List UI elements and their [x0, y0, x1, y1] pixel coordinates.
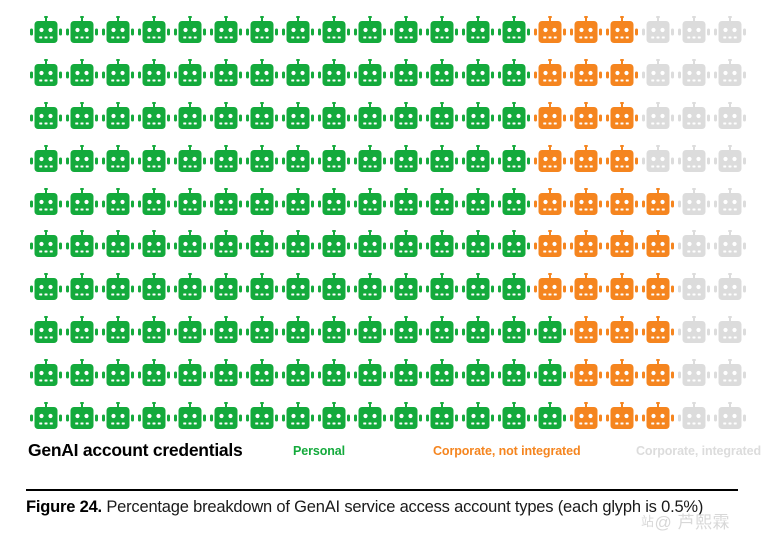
pictogram-glyph-green [210, 57, 246, 91]
pictogram-glyph-grey [678, 57, 714, 91]
robot-head-icon [642, 102, 674, 132]
robot-head-icon [246, 102, 278, 132]
pictogram-glyph-orange [570, 57, 606, 91]
pictogram-glyph-green [102, 314, 138, 348]
pictogram-glyph-green [210, 314, 246, 348]
pictogram-glyph-green [174, 57, 210, 91]
robot-head-icon [210, 16, 242, 46]
legend-item-corporate-not-integrated: Corporate, not integrated [433, 444, 581, 458]
pictogram-glyph-green [102, 57, 138, 91]
robot-head-icon [246, 273, 278, 303]
robot-head-icon [678, 188, 710, 218]
robot-head-icon [174, 273, 206, 303]
robot-head-icon [570, 230, 602, 260]
robot-head-icon [678, 273, 710, 303]
pictogram-glyph-green [498, 400, 534, 434]
pictogram-glyph-grey [714, 400, 750, 434]
pictogram-glyph-green [462, 357, 498, 391]
figure-container: GenAI account credentials Personal Corpo… [0, 0, 762, 548]
pictogram-glyph-green [210, 100, 246, 134]
robot-head-icon [426, 145, 458, 175]
pictogram-glyph-green [174, 271, 210, 305]
robot-head-icon [462, 230, 494, 260]
robot-head-icon [174, 102, 206, 132]
robot-head-icon [462, 359, 494, 389]
pictogram-glyph-green [210, 143, 246, 177]
robot-head-icon [30, 402, 62, 432]
robot-head-icon [30, 59, 62, 89]
robot-head-icon [714, 316, 746, 346]
pictogram-glyph-orange [606, 100, 642, 134]
robot-head-icon [354, 402, 386, 432]
robot-head-icon [174, 402, 206, 432]
robot-head-icon [102, 402, 134, 432]
robot-head-icon [210, 402, 242, 432]
pictogram-glyph-green [174, 143, 210, 177]
robot-head-icon [30, 145, 62, 175]
pictogram-glyph-green [246, 357, 282, 391]
robot-head-icon [354, 59, 386, 89]
robot-head-icon [390, 273, 422, 303]
pictogram-glyph-green [30, 100, 66, 134]
robot-head-icon [102, 230, 134, 260]
robot-head-icon [102, 316, 134, 346]
pictogram-glyph-green [318, 57, 354, 91]
robot-head-icon [246, 402, 278, 432]
pictogram-glyph-orange [570, 186, 606, 220]
robot-head-icon [426, 59, 458, 89]
legend-title: GenAI account credentials [28, 440, 243, 461]
robot-head-icon [318, 188, 350, 218]
robot-head-icon [534, 273, 566, 303]
pictogram-row [30, 314, 738, 348]
robot-head-icon [30, 359, 62, 389]
robot-head-icon [642, 316, 674, 346]
pictogram-glyph-green [66, 228, 102, 262]
caption-divider [26, 489, 738, 491]
pictogram-glyph-green [462, 314, 498, 348]
robot-head-icon [66, 273, 98, 303]
robot-head-icon [282, 16, 314, 46]
pictogram-glyph-green [282, 14, 318, 48]
pictogram-glyph-green [462, 57, 498, 91]
pictogram-grid [30, 14, 738, 434]
pictogram-glyph-orange [606, 228, 642, 262]
pictogram-glyph-orange [534, 57, 570, 91]
pictogram-glyph-green [246, 314, 282, 348]
pictogram-glyph-green [498, 57, 534, 91]
robot-head-icon [498, 102, 530, 132]
robot-head-icon [498, 273, 530, 303]
pictogram-glyph-green [102, 400, 138, 434]
robot-head-icon [426, 16, 458, 46]
robot-head-icon [498, 316, 530, 346]
robot-head-icon [282, 273, 314, 303]
pictogram-glyph-orange [606, 186, 642, 220]
pictogram-glyph-green [138, 186, 174, 220]
robot-head-icon [642, 359, 674, 389]
pictogram-glyph-orange [570, 143, 606, 177]
robot-head-icon [678, 145, 710, 175]
robot-head-icon [102, 273, 134, 303]
pictogram-glyph-green [174, 186, 210, 220]
robot-head-icon [678, 59, 710, 89]
pictogram-glyph-green [210, 400, 246, 434]
pictogram-glyph-green [210, 228, 246, 262]
robot-head-icon [606, 59, 638, 89]
pictogram-glyph-green [30, 57, 66, 91]
robot-head-icon [534, 16, 566, 46]
robot-head-icon [66, 359, 98, 389]
pictogram-glyph-green [30, 143, 66, 177]
robot-head-icon [498, 59, 530, 89]
pictogram-glyph-green [282, 143, 318, 177]
robot-head-icon [138, 273, 170, 303]
robot-head-icon [462, 145, 494, 175]
robot-head-icon [174, 145, 206, 175]
pictogram-glyph-orange [570, 314, 606, 348]
pictogram-glyph-green [426, 143, 462, 177]
robot-head-icon [138, 316, 170, 346]
robot-head-icon [678, 102, 710, 132]
pictogram-glyph-orange [534, 271, 570, 305]
robot-head-icon [534, 188, 566, 218]
robot-head-icon [282, 402, 314, 432]
robot-head-icon [498, 359, 530, 389]
robot-head-icon [66, 16, 98, 46]
pictogram-glyph-orange [642, 314, 678, 348]
pictogram-glyph-green [66, 57, 102, 91]
pictogram-glyph-green [210, 357, 246, 391]
pictogram-glyph-grey [714, 100, 750, 134]
robot-head-icon [498, 188, 530, 218]
robot-head-icon [714, 188, 746, 218]
pictogram-glyph-green [246, 14, 282, 48]
robot-head-icon [570, 59, 602, 89]
robot-head-icon [30, 316, 62, 346]
legend-item-corporate-integrated: Corporate, integrated [636, 444, 761, 458]
robot-head-icon [534, 102, 566, 132]
robot-head-icon [282, 359, 314, 389]
pictogram-row [30, 14, 738, 48]
pictogram-glyph-green [282, 57, 318, 91]
pictogram-glyph-green [390, 100, 426, 134]
pictogram-glyph-green [318, 186, 354, 220]
robot-head-icon [534, 316, 566, 346]
robot-head-icon [426, 273, 458, 303]
robot-head-icon [210, 145, 242, 175]
pictogram-glyph-grey [678, 143, 714, 177]
pictogram-glyph-orange [534, 14, 570, 48]
pictogram-glyph-grey [678, 100, 714, 134]
robot-head-icon [138, 145, 170, 175]
robot-head-icon [642, 145, 674, 175]
pictogram-glyph-green [498, 357, 534, 391]
robot-head-icon [246, 59, 278, 89]
pictogram-glyph-green [498, 14, 534, 48]
robot-head-icon [102, 59, 134, 89]
pictogram-glyph-green [462, 14, 498, 48]
robot-head-icon [498, 230, 530, 260]
pictogram-glyph-green [462, 228, 498, 262]
robot-head-icon [282, 102, 314, 132]
pictogram-glyph-green [354, 314, 390, 348]
pictogram-glyph-green [138, 357, 174, 391]
pictogram-glyph-green [30, 400, 66, 434]
robot-head-icon [282, 230, 314, 260]
pictogram-glyph-green [30, 186, 66, 220]
robot-head-icon [318, 359, 350, 389]
pictogram-glyph-grey [678, 14, 714, 48]
pictogram-glyph-green [138, 400, 174, 434]
pictogram-glyph-orange [642, 400, 678, 434]
robot-head-icon [462, 59, 494, 89]
pictogram-glyph-green [354, 100, 390, 134]
pictogram-glyph-green [390, 14, 426, 48]
pictogram-glyph-green [246, 57, 282, 91]
pictogram-glyph-green [66, 271, 102, 305]
robot-head-icon [570, 359, 602, 389]
pictogram-glyph-green [426, 357, 462, 391]
robot-head-icon [138, 16, 170, 46]
robot-head-icon [678, 402, 710, 432]
pictogram-glyph-green [354, 400, 390, 434]
pictogram-glyph-green [30, 271, 66, 305]
robot-head-icon [498, 402, 530, 432]
robot-head-icon [174, 16, 206, 46]
pictogram-glyph-green [390, 357, 426, 391]
pictogram-glyph-green [138, 271, 174, 305]
robot-head-icon [102, 188, 134, 218]
pictogram-glyph-green [138, 314, 174, 348]
pictogram-glyph-orange [570, 271, 606, 305]
pictogram-glyph-orange [570, 100, 606, 134]
robot-head-icon [570, 145, 602, 175]
pictogram-row [30, 400, 738, 434]
robot-head-icon [390, 102, 422, 132]
pictogram-glyph-orange [570, 400, 606, 434]
pictogram-glyph-green [174, 314, 210, 348]
pictogram-glyph-green [246, 186, 282, 220]
pictogram-glyph-green [354, 57, 390, 91]
robot-head-icon [354, 16, 386, 46]
pictogram-glyph-orange [642, 271, 678, 305]
robot-head-icon [534, 59, 566, 89]
pictogram-glyph-orange [534, 100, 570, 134]
pictogram-glyph-green [246, 400, 282, 434]
robot-head-icon [174, 188, 206, 218]
pictogram-glyph-grey [714, 271, 750, 305]
pictogram-glyph-orange [534, 228, 570, 262]
robot-head-icon [390, 16, 422, 46]
robot-head-icon [138, 102, 170, 132]
pictogram-glyph-green [354, 143, 390, 177]
robot-head-icon [714, 16, 746, 46]
robot-head-icon [498, 145, 530, 175]
robot-head-icon [426, 188, 458, 218]
robot-head-icon [282, 59, 314, 89]
robot-head-icon [354, 359, 386, 389]
pictogram-glyph-green [102, 143, 138, 177]
pictogram-glyph-green [318, 100, 354, 134]
pictogram-glyph-green [426, 271, 462, 305]
robot-head-icon [138, 359, 170, 389]
pictogram-row [30, 271, 738, 305]
pictogram-glyph-green [390, 400, 426, 434]
figure-caption-label: Figure 24. [26, 498, 102, 516]
pictogram-glyph-green [282, 314, 318, 348]
figure-caption-text: Percentage breakdown of GenAI service ac… [102, 498, 703, 516]
pictogram-glyph-green [498, 314, 534, 348]
pictogram-glyph-green [282, 271, 318, 305]
pictogram-glyph-green [498, 228, 534, 262]
pictogram-glyph-green [390, 271, 426, 305]
robot-head-icon [318, 230, 350, 260]
robot-head-icon [102, 359, 134, 389]
robot-head-icon [354, 145, 386, 175]
robot-head-icon [102, 145, 134, 175]
robot-head-icon [714, 273, 746, 303]
pictogram-row [30, 100, 738, 134]
pictogram-glyph-green [318, 14, 354, 48]
pictogram-glyph-grey [642, 143, 678, 177]
robot-head-icon [174, 59, 206, 89]
robot-head-icon [246, 188, 278, 218]
robot-head-icon [246, 359, 278, 389]
pictogram-glyph-green [102, 271, 138, 305]
robot-head-icon [390, 359, 422, 389]
pictogram-glyph-green [534, 314, 570, 348]
robot-head-icon [714, 230, 746, 260]
robot-head-icon [318, 102, 350, 132]
robot-head-icon [606, 102, 638, 132]
robot-head-icon [30, 16, 62, 46]
pictogram-glyph-green [174, 100, 210, 134]
robot-head-icon [210, 188, 242, 218]
robot-head-icon [30, 102, 62, 132]
pictogram-glyph-green [282, 357, 318, 391]
pictogram-glyph-grey [642, 100, 678, 134]
pictogram-glyph-green [282, 400, 318, 434]
robot-head-icon [462, 402, 494, 432]
pictogram-glyph-green [534, 357, 570, 391]
pictogram-glyph-green [318, 314, 354, 348]
pictogram-glyph-green [462, 100, 498, 134]
pictogram-glyph-green [246, 271, 282, 305]
pictogram-glyph-green [102, 100, 138, 134]
pictogram-glyph-grey [714, 143, 750, 177]
robot-head-icon [354, 188, 386, 218]
pictogram-glyph-green [462, 271, 498, 305]
pictogram-glyph-orange [642, 357, 678, 391]
robot-head-icon [426, 102, 458, 132]
robot-head-icon [318, 145, 350, 175]
pictogram-glyph-orange [606, 314, 642, 348]
pictogram-glyph-green [426, 100, 462, 134]
robot-head-icon [678, 316, 710, 346]
robot-head-icon [426, 359, 458, 389]
pictogram-glyph-orange [642, 186, 678, 220]
robot-head-icon [714, 59, 746, 89]
robot-head-icon [66, 145, 98, 175]
pictogram-glyph-green [354, 228, 390, 262]
pictogram-glyph-orange [606, 57, 642, 91]
pictogram-glyph-grey [714, 57, 750, 91]
pictogram-glyph-green [318, 271, 354, 305]
pictogram-glyph-green [282, 100, 318, 134]
pictogram-glyph-green [318, 400, 354, 434]
pictogram-glyph-green [66, 186, 102, 220]
pictogram-glyph-green [498, 100, 534, 134]
robot-head-icon [354, 102, 386, 132]
robot-head-icon [498, 16, 530, 46]
pictogram-glyph-orange [606, 143, 642, 177]
pictogram-glyph-green [102, 14, 138, 48]
pictogram-glyph-green [138, 100, 174, 134]
robot-head-icon [606, 16, 638, 46]
pictogram-glyph-orange [606, 14, 642, 48]
pictogram-glyph-green [210, 186, 246, 220]
pictogram-glyph-green [390, 314, 426, 348]
pictogram-glyph-green [498, 186, 534, 220]
robot-head-icon [318, 273, 350, 303]
pictogram-glyph-green [174, 357, 210, 391]
pictogram-glyph-grey [642, 57, 678, 91]
robot-head-icon [570, 273, 602, 303]
robot-head-icon [390, 59, 422, 89]
pictogram-glyph-green [534, 400, 570, 434]
pictogram-glyph-green [318, 357, 354, 391]
pictogram-glyph-grey [714, 314, 750, 348]
robot-head-icon [318, 16, 350, 46]
pictogram-row [30, 143, 738, 177]
pictogram-glyph-green [66, 357, 102, 391]
robot-head-icon [390, 402, 422, 432]
robot-head-icon [210, 316, 242, 346]
pictogram-glyph-orange [606, 271, 642, 305]
robot-head-icon [678, 359, 710, 389]
robot-head-icon [714, 145, 746, 175]
pictogram-glyph-green [426, 314, 462, 348]
robot-head-icon [642, 16, 674, 46]
pictogram-glyph-grey [678, 314, 714, 348]
pictogram-glyph-green [30, 228, 66, 262]
robot-head-icon [390, 145, 422, 175]
robot-head-icon [246, 16, 278, 46]
pictogram-glyph-grey [678, 228, 714, 262]
robot-head-icon [138, 230, 170, 260]
robot-head-icon [138, 188, 170, 218]
pictogram-glyph-green [102, 186, 138, 220]
robot-head-icon [102, 102, 134, 132]
robot-head-icon [246, 230, 278, 260]
pictogram-glyph-green [102, 228, 138, 262]
pictogram-glyph-green [354, 357, 390, 391]
pictogram-glyph-green [30, 14, 66, 48]
robot-head-icon [606, 188, 638, 218]
robot-head-icon [66, 59, 98, 89]
pictogram-glyph-green [210, 271, 246, 305]
robot-head-icon [246, 316, 278, 346]
robot-head-icon [318, 59, 350, 89]
figure-caption: Figure 24. Percentage breakdown of GenAI… [26, 497, 742, 519]
pictogram-glyph-green [30, 314, 66, 348]
robot-head-icon [642, 188, 674, 218]
pictogram-glyph-green [282, 228, 318, 262]
pictogram-glyph-orange [570, 357, 606, 391]
pictogram-glyph-orange [642, 228, 678, 262]
robot-head-icon [174, 359, 206, 389]
